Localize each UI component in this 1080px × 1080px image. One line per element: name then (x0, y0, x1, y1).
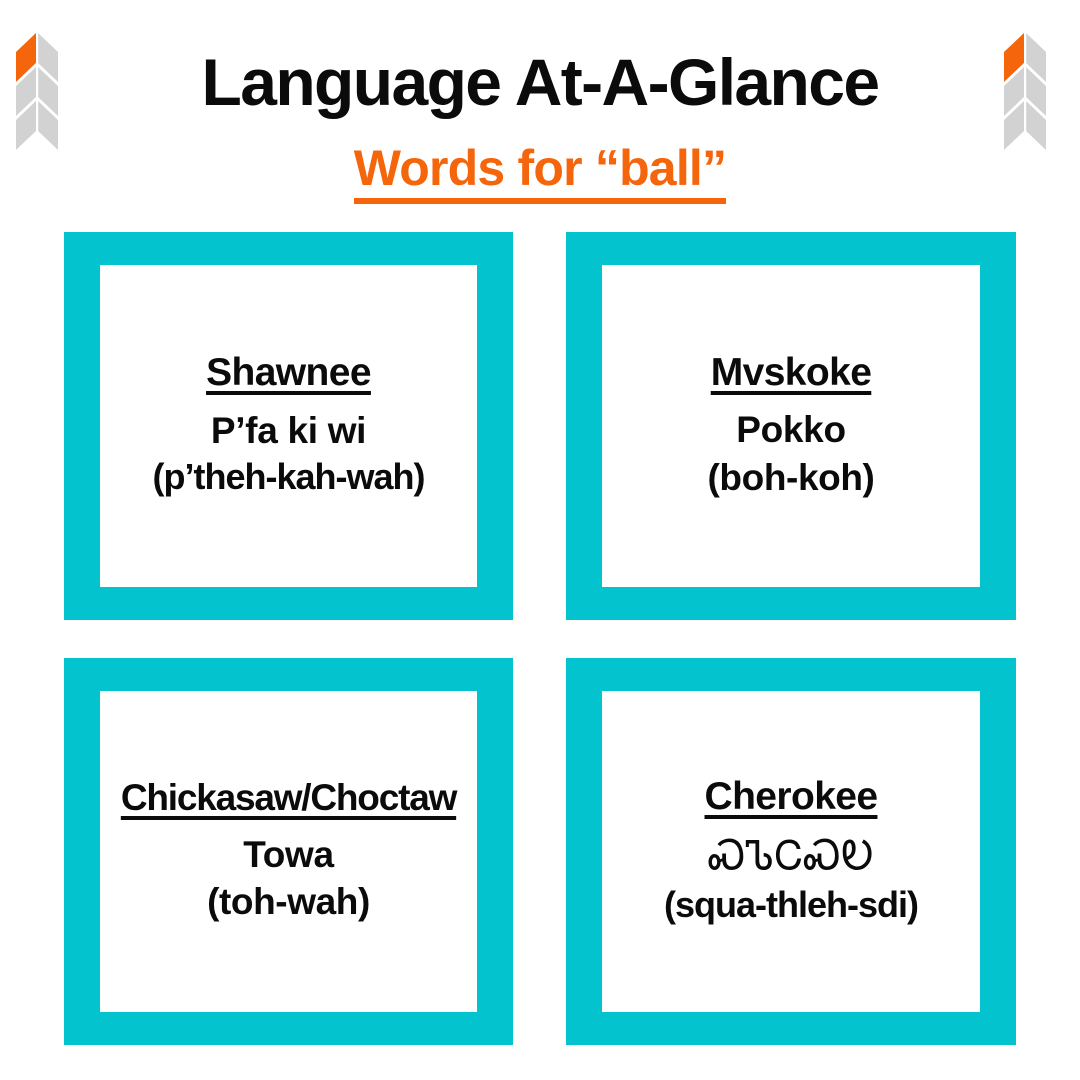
language-word: P’fa ki wi (211, 407, 366, 454)
card-inner: Shawnee P’fa ki wi (p’theh-kah-wah) (100, 265, 477, 587)
language-word-syllabary: ᏍᏖᏟᏍᎧ (708, 831, 874, 882)
language-word: Towa (243, 831, 334, 878)
title-row: Language At-A-Glance (0, 26, 1080, 138)
language-name: Shawnee (206, 351, 371, 395)
page-title: Language At-A-Glance (178, 49, 903, 115)
language-pronunciation: (toh-wah) (207, 878, 370, 925)
language-card-chickasaw-choctaw: Chickasaw/Choctaw Towa (toh-wah) (64, 658, 513, 1045)
language-pronunciation: (p’theh-kah-wah) (153, 454, 425, 500)
poster-header: Language At-A-Glance Words for “ball” (0, 0, 1080, 218)
subtitle-row: Words for “ball” (0, 142, 1080, 204)
language-name: Cherokee (705, 775, 878, 819)
language-pronunciation: (boh-koh) (708, 454, 875, 501)
page-subtitle: Words for “ball” (354, 142, 726, 204)
language-name: Chickasaw/Choctaw (121, 777, 456, 818)
language-name: Mvskoke (711, 351, 872, 395)
language-word: Pokko (736, 406, 846, 453)
language-card-shawnee: Shawnee P’fa ki wi (p’theh-kah-wah) (64, 232, 513, 620)
language-card-cherokee: Cherokee ᏍᏖᏟᏍᎧ (squa-thleh-sdi) (566, 658, 1016, 1045)
card-inner: Chickasaw/Choctaw Towa (toh-wah) (100, 691, 477, 1012)
language-at-a-glance-poster: Language At-A-Glance Words for “ball” Sh… (0, 0, 1080, 1080)
card-inner: Cherokee ᏍᏖᏟᏍᎧ (squa-thleh-sdi) (602, 691, 980, 1012)
language-pronunciation: (squa-thleh-sdi) (664, 882, 918, 928)
language-card-grid: Shawnee P’fa ki wi (p’theh-kah-wah) Mvsk… (64, 232, 1016, 1045)
card-inner: Mvskoke Pokko (boh-koh) (602, 265, 980, 587)
language-card-mvskoke: Mvskoke Pokko (boh-koh) (566, 232, 1016, 620)
